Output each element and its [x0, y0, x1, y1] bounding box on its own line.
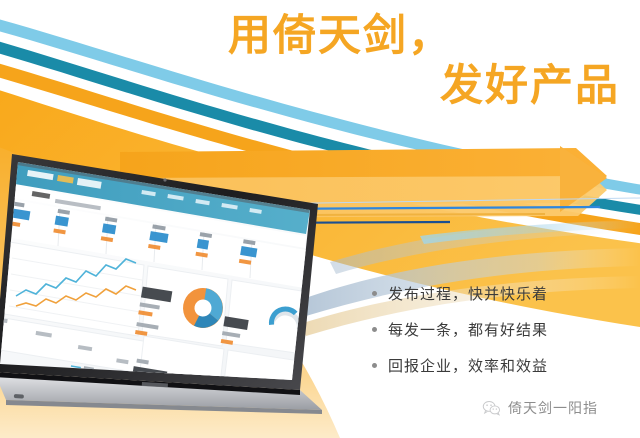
list-item: 发布过程，快并快乐着	[372, 283, 548, 304]
promo-poster: 用倚天剑， 发好产品 发布过程，快并快乐着 每发一条，都有好结果 回报企业，效率…	[0, 0, 640, 438]
bullet-list: 发布过程，快并快乐着 每发一条，都有好结果 回报企业，效率和效益	[372, 283, 548, 391]
overview-card	[135, 266, 228, 346]
bullet-text: 回报企业，效率和效益	[388, 355, 548, 376]
footer-account: 倚天剑一阳指	[482, 398, 598, 418]
list-item: 回报企业，效率和效益	[372, 355, 548, 376]
headline-line-1: 用倚天剑，	[228, 14, 620, 60]
list-item: 每发一条，都有好结果	[372, 319, 548, 340]
wechat-icon	[482, 400, 501, 416]
bullet-dot-icon	[372, 327, 377, 332]
footer-account-name: 倚天剑一阳指	[508, 398, 598, 418]
webcam-icon	[163, 178, 166, 181]
usb-port	[14, 394, 24, 399]
headline: 用倚天剑， 发好产品	[220, 14, 620, 109]
bullet-dot-icon	[372, 291, 377, 296]
bullet-text: 每发一条，都有好结果	[388, 319, 548, 340]
bullet-dot-icon	[372, 363, 377, 368]
laptop-mockup	[0, 118, 412, 438]
headline-line-2: 发好产品	[220, 64, 620, 110]
effect-card	[221, 280, 308, 354]
bullet-text: 发布过程，快并快乐着	[388, 283, 548, 304]
